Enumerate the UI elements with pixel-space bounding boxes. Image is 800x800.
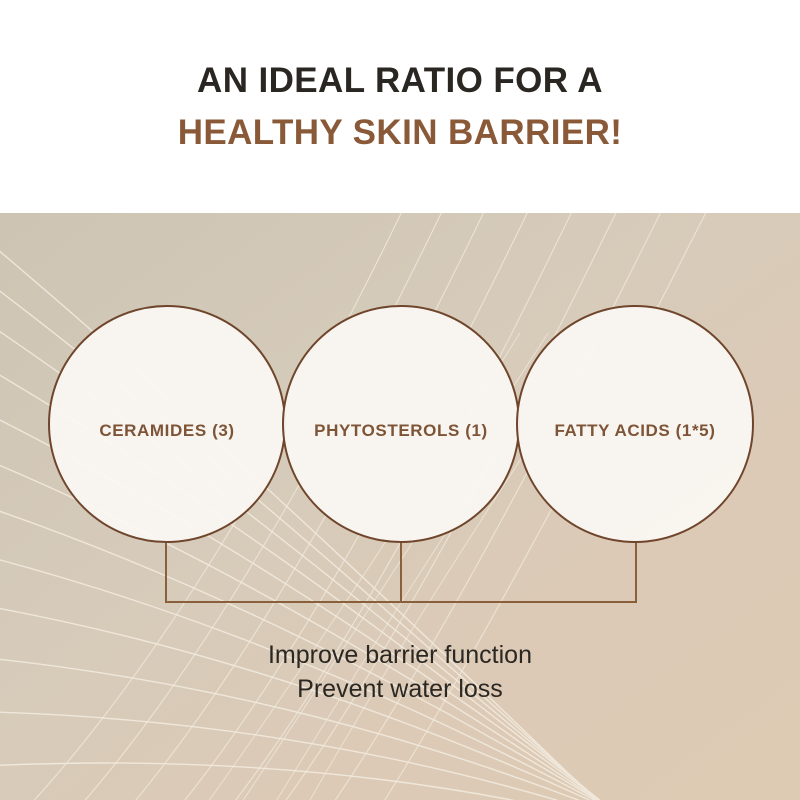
- venn-label-phytosterols: PHYTOSTEROLS (1): [314, 421, 488, 441]
- benefits-caption: Improve barrier function Prevent water l…: [0, 638, 800, 707]
- infographic-canvas: AN IDEAL RATIO FOR A HEALTHY SKIN BARRIE…: [0, 0, 800, 800]
- headline-line-1: AN IDEAL RATIO FOR A: [197, 56, 603, 106]
- venn-label-fatty-acids: FATTY ACIDS (1*5): [554, 421, 715, 441]
- caption-line-1: Improve barrier function: [0, 638, 800, 672]
- background-pattern: [0, 213, 800, 800]
- header-band: AN IDEAL RATIO FOR A HEALTHY SKIN BARRIE…: [0, 0, 800, 213]
- caption-line-2: Prevent water loss: [0, 672, 800, 706]
- headline-line-2: HEALTHY SKIN BARRIER!: [178, 108, 623, 158]
- venn-label-ceramides: CERAMIDES (3): [99, 421, 234, 441]
